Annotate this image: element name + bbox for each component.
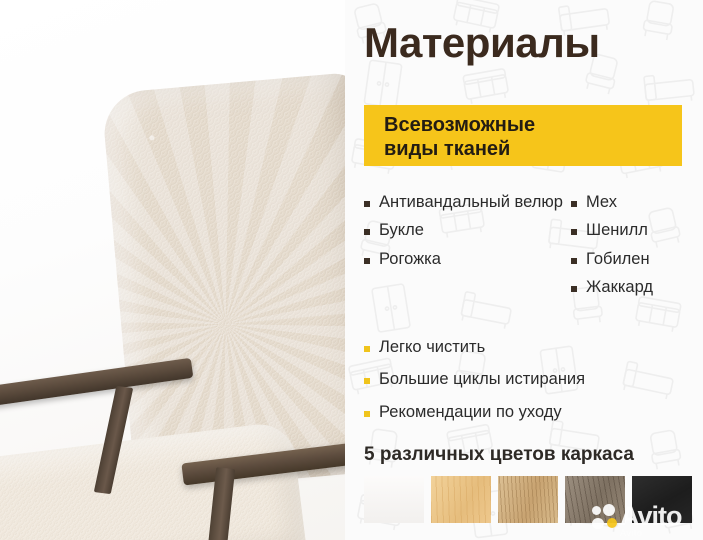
list-item: Рекомендации по уходу: [364, 403, 694, 422]
highlight-banner-line-1: Всевозможные: [384, 113, 535, 137]
list-item-label: Шенилл: [586, 221, 648, 240]
frame-colors-title: 5 различных цветов каркаса: [364, 444, 634, 466]
list-item: Жаккард: [571, 278, 703, 297]
bullet-square-icon: [571, 229, 577, 235]
bullet-square-icon: [364, 346, 370, 352]
highlight-banner-line-2: виды тканей: [384, 137, 535, 161]
list-item: Рогожка: [364, 250, 564, 269]
list-item: Легко чистить: [364, 338, 694, 357]
swatch-birch[interactable]: [431, 476, 491, 523]
list-item-label: Рекомендации по уходу: [379, 403, 562, 422]
swatch-oak[interactable]: [498, 476, 558, 523]
bullet-square-icon: [364, 258, 370, 264]
list-item-label: Букле: [379, 221, 424, 240]
product-photo: [0, 0, 345, 540]
benefits-list: Легко чистить Большие циклы истирания Ре…: [364, 338, 694, 435]
bullet-square-icon: [364, 378, 370, 384]
page-title: Материалы: [364, 22, 600, 64]
swatch-black[interactable]: [632, 476, 692, 523]
listing-banner: Материалы Всевозможные виды тканей Антив…: [0, 0, 703, 540]
list-item: Шенилл: [571, 221, 703, 240]
list-item-label: Мех: [586, 193, 617, 212]
bullet-square-icon: [571, 258, 577, 264]
highlight-banner: Всевозможные виды тканей: [364, 105, 682, 166]
swatch-grey-brown[interactable]: [565, 476, 625, 523]
bullet-square-icon: [364, 201, 370, 207]
list-item: Букле: [364, 221, 564, 240]
list-item: Гобилен: [571, 250, 703, 269]
fabric-list-column-1: Антивандальный велюр Букле Рогожка: [364, 193, 564, 278]
info-panel: Материалы Всевозможные виды тканей Антив…: [345, 0, 703, 540]
list-item-label: Антивандальный велюр: [379, 193, 563, 212]
fabric-list-column-2: Мех Шенилл Гобилен Жаккард: [571, 193, 703, 307]
highlight-banner-text: Всевозможные виды тканей: [384, 113, 535, 162]
bullet-square-icon: [571, 201, 577, 207]
list-item-label: Рогожка: [379, 250, 441, 269]
swatch-white[interactable]: [364, 476, 424, 523]
list-item-label: Большие циклы истирания: [379, 370, 585, 389]
bullet-square-icon: [364, 411, 370, 417]
list-item-label: Легко чистить: [379, 338, 485, 357]
list-item: Большие циклы истирания: [364, 370, 694, 389]
list-item: Мех: [571, 193, 703, 212]
list-item-label: Гобилен: [586, 250, 650, 269]
frame-color-swatches: [364, 476, 692, 523]
list-item: Антивандальный велюр: [364, 193, 564, 212]
bullet-square-icon: [364, 229, 370, 235]
bullet-square-icon: [571, 286, 577, 292]
list-item-label: Жаккард: [586, 278, 653, 297]
